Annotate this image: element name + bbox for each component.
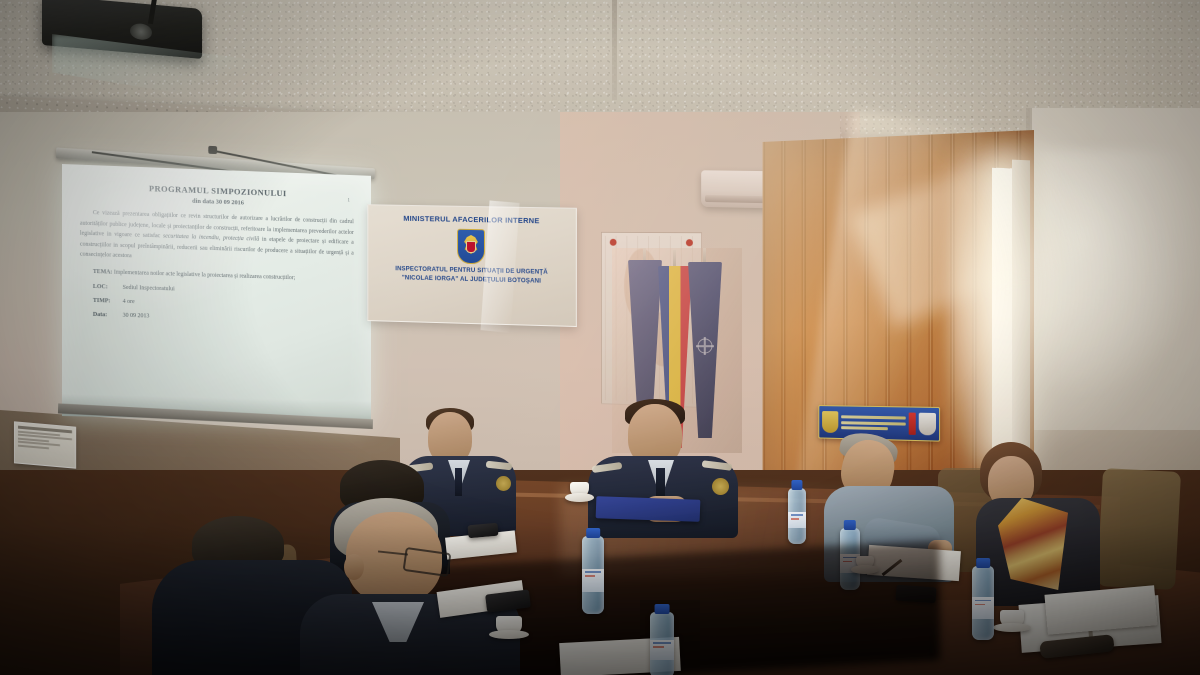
water-bottle <box>582 536 604 614</box>
plaque-crest-icon <box>822 411 838 433</box>
label-line <box>653 646 664 648</box>
bottle-cap <box>655 604 670 614</box>
saucer <box>489 630 530 639</box>
saucer <box>565 493 595 502</box>
label-line <box>585 575 595 577</box>
map-pin-icon-2 <box>686 239 693 246</box>
screen-hook-knob <box>208 146 217 154</box>
plaque-text-lines <box>841 415 906 430</box>
bottle-label <box>650 640 674 660</box>
notice-text-line <box>18 445 49 449</box>
presentation-slide: 1 PROGRAMUL SIMPOZIONULUI din data 30 09… <box>62 164 371 423</box>
bottle-cap <box>586 528 600 538</box>
slide-paragraph: Ce vizează prezentarea obligațiilor ce r… <box>80 208 354 270</box>
bottle-cap <box>976 558 990 568</box>
slide-paragraph-italic: securitatea la incendiu, protecția civil… <box>163 234 259 243</box>
slide-tema-label: TEMA: <box>93 269 113 276</box>
necktie <box>455 468 462 496</box>
meeting-room-photo: 1 PROGRAMUL SIMPOZIONULUI din data 30 09… <box>0 0 1200 675</box>
water-bottle <box>650 612 674 675</box>
slide-loc-label: LOC: <box>93 282 123 293</box>
bottle-label <box>582 569 604 592</box>
slide-data-label: Data: <box>93 310 123 321</box>
ear <box>344 554 364 580</box>
label-line <box>653 642 671 644</box>
bottle-body <box>650 612 674 675</box>
saucer <box>993 623 1030 632</box>
label-line <box>791 518 799 520</box>
projector-lens-icon <box>130 23 152 41</box>
water-bottle <box>972 566 994 640</box>
coffee-cup <box>496 616 522 634</box>
slide-data-value: 30 09 2013 <box>123 313 150 320</box>
coffee-cup <box>570 482 589 497</box>
plaque-line <box>841 426 887 430</box>
coffee-cup <box>1000 610 1024 627</box>
plaque-red-bar <box>909 413 916 435</box>
plaque-line <box>841 415 906 419</box>
slide-page-number: 1 <box>348 198 350 203</box>
label-line <box>975 604 985 606</box>
slide-timp-value: 4 ore <box>123 299 135 305</box>
bottle-body <box>582 536 604 614</box>
right-wall-light-glow <box>1040 150 1200 400</box>
uniform-patch-icon <box>496 476 511 491</box>
label-line <box>585 571 601 573</box>
uniform-patch-icon <box>712 478 729 495</box>
nato-ring-icon <box>698 339 713 354</box>
person-woman-right-scarf <box>976 446 1106 606</box>
label-line <box>791 514 803 516</box>
label-line <box>975 600 991 602</box>
map-pin-icon <box>610 239 617 246</box>
screen-surface: 1 PROGRAMUL SIMPOZIONULUI din data 30 09… <box>62 164 371 423</box>
chair <box>1097 468 1181 590</box>
bottle-label <box>788 512 806 529</box>
projection-screen: 1 PROGRAMUL SIMPOZIONULUI din data 30 09… <box>62 164 371 429</box>
shield-icon <box>466 241 476 253</box>
plaque-ministry-text: MINISTERUL AFACERILOR INTERNE <box>368 213 576 226</box>
slide-timp-label: TIMP: <box>93 296 123 307</box>
bottle-label <box>972 597 994 619</box>
coat-of-arms-icon <box>457 229 485 265</box>
ministry-wall-plaque: MINISTERUL AFACERILOR INTERNE INSPECTORA… <box>367 204 577 327</box>
slide-loc-value: Sediul Inspectoratului <box>123 284 175 292</box>
water-bottle <box>788 488 806 544</box>
ceiling-seam <box>612 0 617 100</box>
bottle-cap <box>791 480 802 490</box>
window-light-gap <box>992 168 1014 457</box>
slide-tema-value: Implementarea noilor acte legislative la… <box>114 270 295 282</box>
wall-posted-notice <box>14 421 76 468</box>
bottle-cap <box>844 520 856 530</box>
window-jamb <box>1012 160 1030 461</box>
plaque-line <box>841 421 906 425</box>
bottle-body <box>788 488 806 544</box>
plaque-crest-icon-right <box>919 413 936 436</box>
bottle-body <box>972 566 994 640</box>
document-folder <box>596 496 701 522</box>
